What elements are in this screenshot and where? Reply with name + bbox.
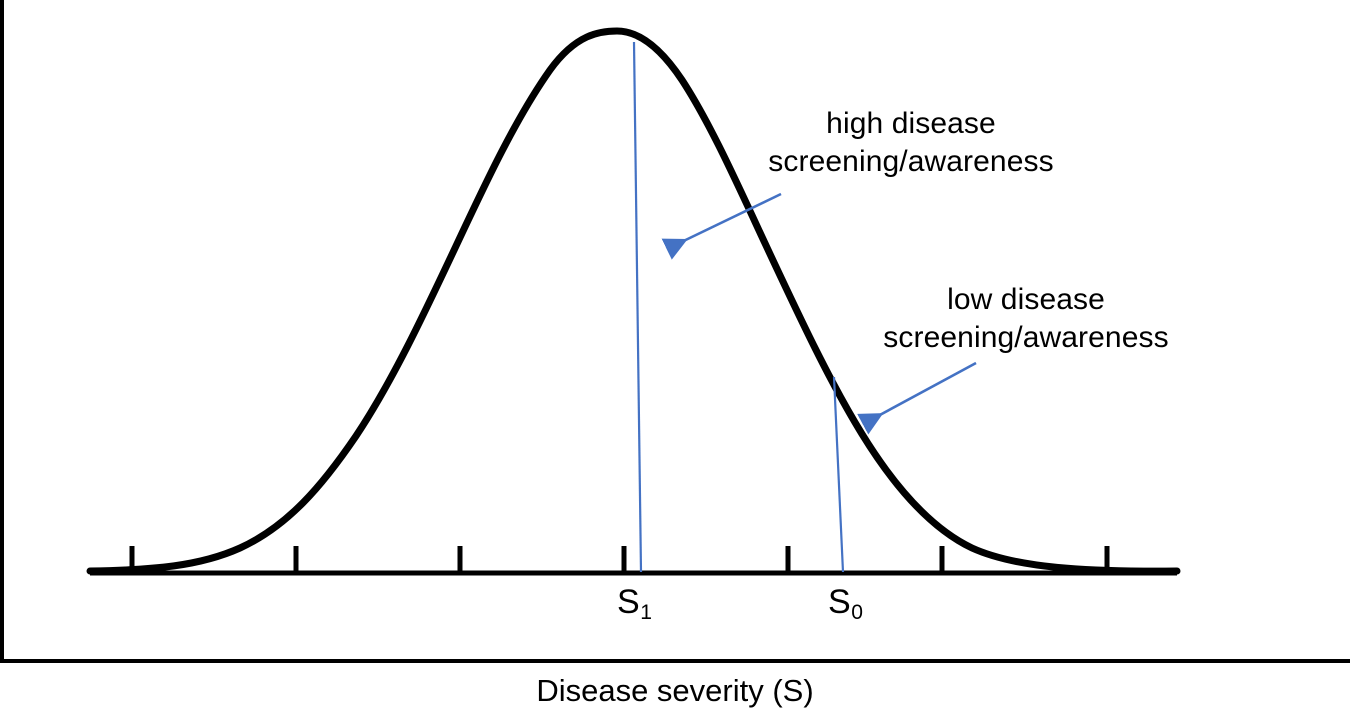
axis-label-s0-base: S	[828, 583, 851, 621]
annotation-high-line1: high disease	[761, 105, 1061, 143]
axis-label-s0: S0	[828, 585, 863, 619]
reference-line-s0	[834, 377, 843, 572]
annotation-arrow-low	[865, 363, 976, 423]
figure-frame: high disease screening/awareness low dis…	[0, 0, 1350, 663]
annotation-high-screening: high disease screening/awareness	[761, 105, 1061, 182]
x-axis-title: Disease severity (S)	[0, 672, 1350, 709]
annotation-low-line1: low disease	[876, 281, 1176, 319]
axis-label-s0-subscript: 0	[851, 601, 863, 624]
x-axis-ticks	[132, 546, 1107, 573]
annotation-low-screening: low disease screening/awareness	[876, 281, 1176, 358]
annotation-low-line2: screening/awareness	[876, 319, 1176, 357]
annotation-high-line2: screening/awareness	[761, 143, 1061, 181]
axis-label-s1-base: S	[617, 583, 640, 621]
reference-line-s1	[634, 42, 641, 572]
axis-label-s1-subscript: 1	[640, 601, 652, 624]
axis-label-s1: S1	[617, 585, 652, 619]
